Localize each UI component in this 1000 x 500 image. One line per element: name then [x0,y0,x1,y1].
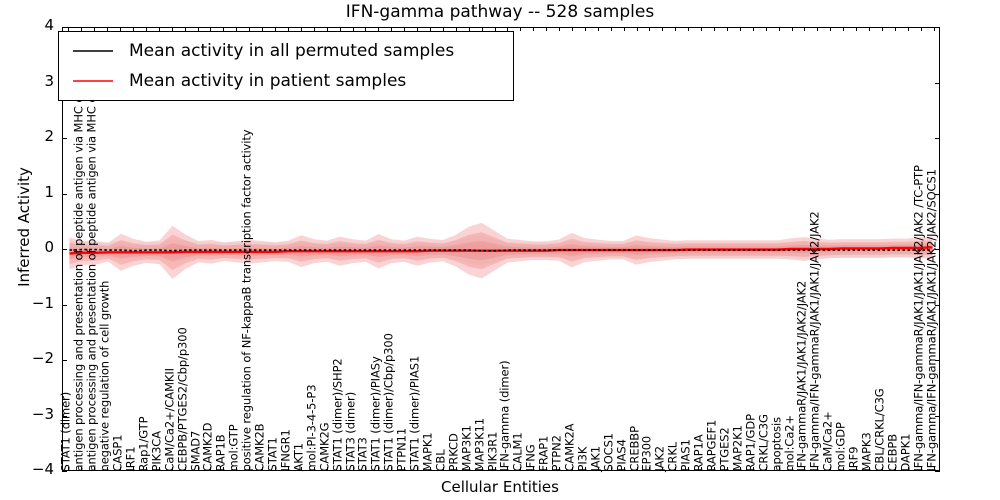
legend-item-patient: Mean activity in patient samples [59,66,513,96]
y-tick-label: 3 [8,74,54,89]
y-tick-mark [935,138,940,139]
y-tick-label: −3 [8,407,54,422]
y-tick-label: −2 [8,351,54,366]
legend-label-patient: Mean activity in patient samples [129,71,406,91]
chart-figure: IFN-gamma pathway -- 528 samples Inferre… [0,0,1000,500]
y-tick-mark [62,360,67,361]
chart-title: IFN-gamma pathway -- 528 samples [0,2,1000,22]
x-axis-label: Cellular Entities [0,478,1000,496]
y-tick-mark [935,471,940,472]
chart-legend: Mean activity in all permuted samples Me… [58,31,514,101]
y-tick-mark [935,305,940,306]
legend-line-patient [73,78,113,84]
y-tick-label: 0 [8,240,54,255]
y-tick-mark [62,194,67,195]
legend-item-permuted: Mean activity in all permuted samples [59,36,513,66]
y-tick-mark [62,305,67,306]
y-tick-label: −4 [8,462,54,477]
y-tick-mark [62,27,67,28]
y-tick-mark [62,138,67,139]
y-tick-mark [935,194,940,195]
y-tick-mark [62,471,67,472]
y-tick-label: 1 [8,185,54,200]
y-tick-label: −1 [8,296,54,311]
y-tick-mark [935,83,940,84]
y-tick-mark [935,360,940,361]
y-tick-mark [935,416,940,417]
y-tick-mark [935,249,940,250]
y-tick-mark [935,27,940,28]
legend-label-permuted: Mean activity in all permuted samples [129,41,454,61]
y-tick-mark [62,249,67,250]
y-tick-label: 2 [8,129,54,144]
y-tick-mark [62,416,67,417]
y-tick-label: 4 [8,18,54,33]
legend-line-permuted [73,48,113,54]
